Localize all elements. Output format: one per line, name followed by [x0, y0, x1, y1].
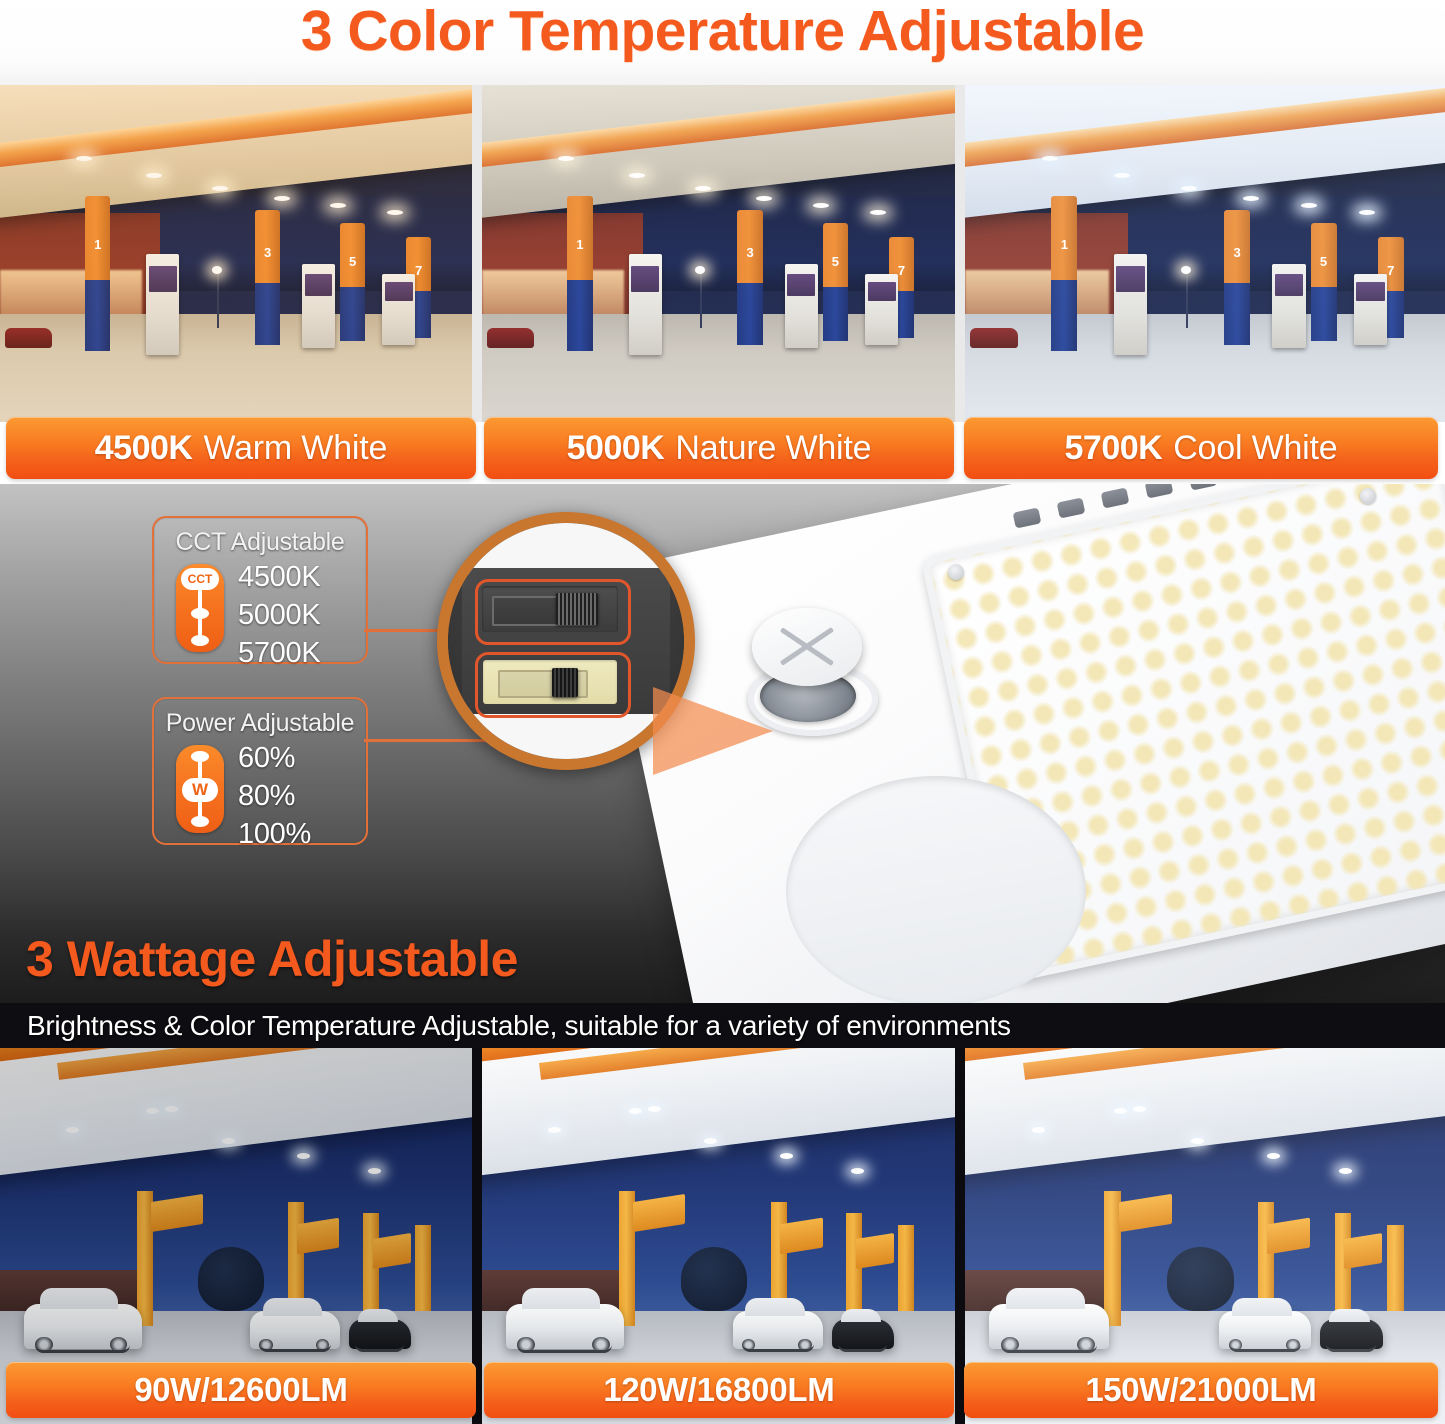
power-adjustable-box: Power Adjustable W 60% 80% 100% [152, 697, 368, 845]
cct-pill-icon: CCT [176, 564, 224, 652]
caption-150w: 150W /21000LM [964, 1362, 1438, 1418]
vehicle [506, 1304, 624, 1349]
caption-4500k: 4500K Warm White [6, 417, 476, 479]
product-infographic: 3 Color Temperature Adjustable 1 3 [0, 0, 1445, 1424]
cross-screw-cap [752, 608, 862, 686]
power-pill-icon: W [176, 745, 224, 833]
cct-box-title: CCT Adjustable [154, 528, 366, 557]
power-values: 60% 80% 100% [238, 739, 311, 853]
scene-night-warm: 1 3 5 7 [0, 85, 472, 422]
title-band: 3 Color Temperature Adjustable [0, 0, 1445, 85]
caption-5700k: 5700K Cool White [964, 417, 1438, 479]
caption-name: Cool White [1173, 429, 1337, 468]
cct-photo-4500k: 1 3 5 7 [0, 85, 472, 422]
strapline-text: Brightness & Color Temperature Adjustabl… [0, 1010, 1011, 1042]
scene-night-cool: 1 3 5 7 [965, 85, 1445, 422]
caption-name: Nature White [675, 429, 871, 468]
vehicle [24, 1304, 142, 1349]
cct-values: 4500K 5000K 5700K [238, 558, 320, 672]
cct-adjustable-box: CCT Adjustable CCT 4500K 5000K 5700K [152, 516, 368, 664]
scene-night-neutral: 1 3 5 7 [482, 85, 955, 422]
vehicle [989, 1304, 1109, 1349]
caption-watts: 120W [603, 1371, 687, 1409]
cct-badge: CCT [181, 568, 219, 590]
vehicle [250, 1311, 340, 1349]
page-title: 3 Color Temperature Adjustable [0, 0, 1445, 64]
cct-value-1: 4500K [238, 558, 320, 596]
pointer-arrow [653, 687, 773, 775]
power-value-2: 80% [238, 777, 311, 815]
vehicle [1320, 1319, 1382, 1349]
caption-kelvin: 5700K [1065, 429, 1163, 468]
caption-name: Warm White [203, 429, 387, 468]
power-value-1: 60% [238, 739, 311, 777]
caption-5000k: 5000K Nature White [484, 417, 954, 479]
cct-photo-row: 1 3 5 7 [0, 85, 1445, 422]
caption-kelvin: 4500K [95, 429, 193, 468]
cct-value-2: 5000K [238, 596, 320, 634]
cct-photo-5000k: 1 3 5 7 [482, 85, 955, 422]
caption-90w: 90W /12600LM [6, 1362, 476, 1418]
power-value-3: 100% [238, 815, 311, 853]
caption-watts: 150W [1085, 1371, 1169, 1409]
strapline-bar: Brightness & Color Temperature Adjustabl… [0, 1003, 1445, 1048]
vehicle [349, 1319, 410, 1349]
vehicle [832, 1319, 893, 1349]
power-badge: W [182, 778, 218, 802]
vehicle [1219, 1311, 1310, 1349]
cct-photo-5700k: 1 3 5 7 [965, 85, 1445, 422]
vehicle [733, 1311, 823, 1349]
caption-120w: 120W /16800LM [484, 1362, 954, 1418]
caption-lumens: /12600LM [201, 1371, 348, 1409]
adjustable-feature-section: CCT Adjustable CCT 4500K 5000K 5700K Pow… [0, 484, 1445, 1003]
caption-kelvin: 5000K [567, 429, 665, 468]
caption-lumens: /16800LM [688, 1371, 835, 1409]
power-box-title: Power Adjustable [154, 709, 366, 738]
caption-lumens: /21000LM [1170, 1371, 1317, 1409]
cct-dip-switch [475, 579, 631, 645]
caption-watts: 90W [134, 1371, 200, 1409]
wattage-section-title: 3 Wattage Adjustable [26, 930, 518, 988]
housing-dimple [786, 776, 1086, 1003]
cct-value-3: 5700K [238, 634, 320, 672]
power-dip-switch [475, 652, 631, 718]
